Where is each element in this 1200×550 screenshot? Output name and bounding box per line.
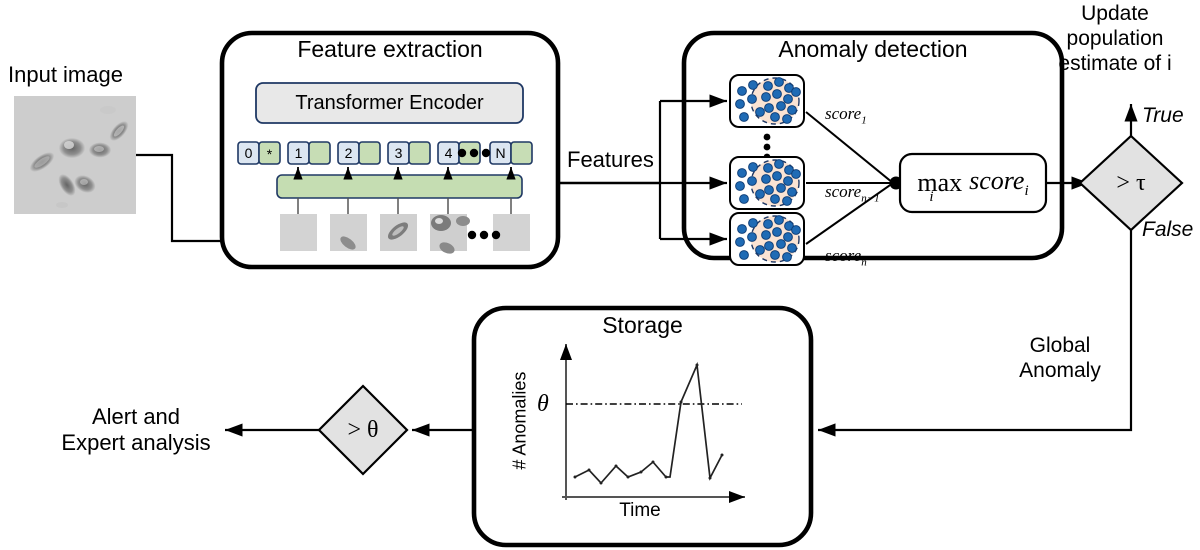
token-4-number: 4	[438, 145, 459, 162]
cluster-cell-2	[730, 157, 804, 209]
max-score-arg: score	[969, 166, 1024, 195]
score-n-label: scoren	[808, 226, 867, 289]
tau-false-label: False	[1142, 218, 1193, 243]
storage-title: Storage	[474, 312, 811, 339]
token-3-number: 3	[388, 145, 409, 162]
token-0-number: 0	[238, 145, 259, 162]
update-population-label: Updatepopulationestimate of i	[1030, 2, 1200, 76]
tau-true-label: True	[1142, 104, 1184, 129]
input-image-thumbnail	[14, 96, 136, 214]
token-2-number: 2	[338, 145, 359, 162]
max-score-expression: max i scorei	[900, 154, 1046, 212]
max-score-arg-subscript: i	[1024, 183, 1028, 199]
token-ellipsis-dots	[458, 149, 490, 157]
decision-tau-label: > τ	[1080, 169, 1182, 197]
storage-x-axis-label: Time	[600, 500, 680, 522]
transformer-encoder-label: Transformer Encoder	[256, 92, 523, 116]
global-anomaly-label: GlobalAnomaly	[995, 334, 1125, 384]
score-1-label: score1	[808, 84, 867, 147]
cluster-cell-3	[730, 213, 804, 265]
feature-extraction-title: Feature extraction	[222, 36, 558, 63]
features-label: Features	[567, 147, 654, 173]
storage-y-axis-label: # Anomalies	[509, 356, 530, 486]
diagram-canvas: Input image Feature extraction Transform…	[0, 0, 1200, 550]
input-image-label: Input image	[8, 62, 148, 88]
cluster-cell-1	[730, 75, 804, 127]
token-0-mark: *	[259, 146, 280, 163]
patch-ellipsis-dots	[468, 231, 500, 239]
diagram-vector-layer	[0, 0, 1200, 550]
alert-expert-analysis-label: Alert andExpert analysis	[48, 404, 224, 456]
max-operator-subscript: i	[929, 190, 933, 205]
decision-theta-label: > θ	[319, 416, 407, 444]
token-N-number: N	[490, 145, 511, 162]
token-1-number: 1	[288, 145, 309, 162]
linear-projection-bar	[277, 175, 522, 198]
score-n-1-label: scoren−1	[808, 162, 880, 225]
anomaly-detection-title: Anomaly detection	[684, 36, 1062, 63]
max-operator: max	[917, 168, 962, 197]
storage-theta-label: θ	[537, 390, 549, 418]
